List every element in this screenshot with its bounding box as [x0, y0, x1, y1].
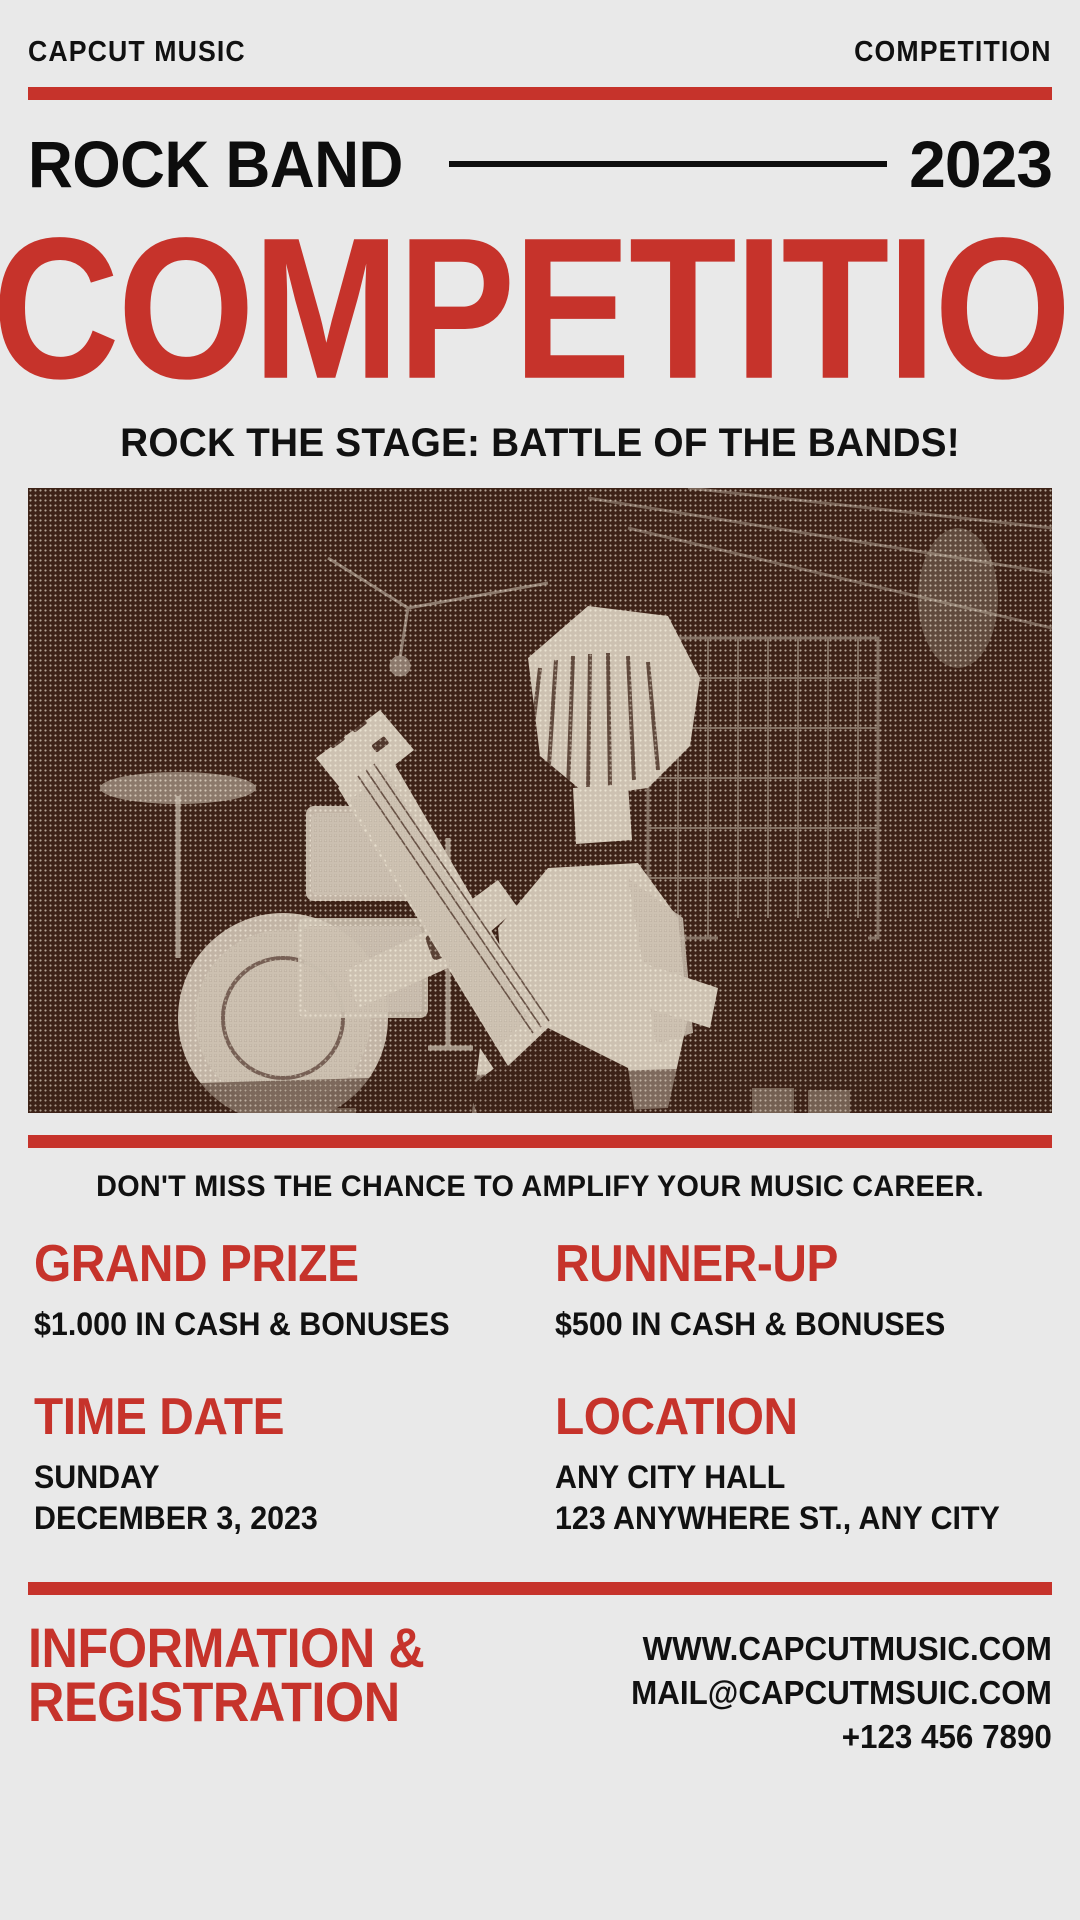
- contact-website[interactable]: WWW.CAPCUTMUSIC.COM: [631, 1627, 1052, 1671]
- info-body-line: DECEMBER 3, 2023: [34, 1498, 518, 1539]
- info-body: SUNDAY DECEMBER 3, 2023: [34, 1457, 518, 1539]
- stage-photo: [28, 488, 1052, 1113]
- info-heading: TIME DATE: [34, 1391, 502, 1443]
- registration-line-2: REGISTRATION: [28, 1675, 424, 1729]
- info-heading: RUNNER-UP: [555, 1238, 1012, 1290]
- connector-line: [449, 161, 887, 167]
- poster-root: CAPCUT MUSIC COMPETITION ROCK BAND 2023 …: [0, 0, 1080, 1920]
- info-body-line: 123 ANYWHERE ST., ANY CITY: [555, 1498, 1027, 1539]
- info-cell-grand-prize: GRAND PRIZE $1.000 IN CASH & BONUSES: [34, 1238, 543, 1345]
- info-grid: GRAND PRIZE $1.000 IN CASH & BONUSES RUN…: [28, 1238, 1052, 1539]
- info-body: ANY CITY HALL 123 ANYWHERE ST., ANY CITY: [555, 1457, 1027, 1539]
- contact-list: WWW.CAPCUTMUSIC.COM MAIL@CAPCUTMSUIC.COM…: [631, 1621, 1052, 1758]
- registration-heading: INFORMATION & REGISTRATION: [28, 1621, 424, 1729]
- halftone-overlay: [28, 488, 1052, 1113]
- page-title: COMPETITION: [0, 224, 1080, 393]
- info-cell-runner-up: RUNNER-UP $500 IN CASH & BONUSES: [543, 1238, 1052, 1345]
- pitch-line: DON'T MISS THE CHANCE TO AMPLIFY YOUR MU…: [48, 1170, 1031, 1204]
- divider-rule-bottom: [28, 1582, 1052, 1595]
- divider-rule-top: [28, 87, 1052, 100]
- poster-footer: INFORMATION & REGISTRATION WWW.CAPCUTMUS…: [28, 1621, 1052, 1758]
- info-body: $500 IN CASH & BONUSES: [555, 1304, 1027, 1345]
- band-year-row: ROCK BAND 2023: [28, 126, 1052, 202]
- divider-rule-middle: [28, 1135, 1052, 1148]
- info-heading: GRAND PRIZE: [34, 1238, 502, 1290]
- info-body: $1.000 IN CASH & BONUSES: [34, 1304, 518, 1345]
- info-body-line: SUNDAY: [34, 1457, 518, 1498]
- contact-phone[interactable]: +123 456 7890: [631, 1715, 1052, 1759]
- section-label: COMPETITION: [855, 36, 1052, 69]
- contact-email[interactable]: MAIL@CAPCUTMSUIC.COM: [631, 1671, 1052, 1715]
- info-body-line: ANY CITY HALL: [555, 1457, 1027, 1498]
- brand-label: CAPCUT MUSIC: [28, 36, 246, 69]
- info-heading: LOCATION: [555, 1391, 1012, 1443]
- year-label: 2023: [909, 126, 1052, 202]
- info-cell-time-date: TIME DATE SUNDAY DECEMBER 3, 2023: [34, 1391, 543, 1539]
- rock-band-label: ROCK BAND: [28, 126, 403, 202]
- poster-header: CAPCUT MUSIC COMPETITION: [28, 0, 1052, 87]
- info-cell-location: LOCATION ANY CITY HALL 123 ANYWHERE ST.,…: [543, 1391, 1052, 1539]
- registration-line-1: INFORMATION &: [28, 1621, 424, 1675]
- page-subtitle: ROCK THE STAGE: BATTLE OF THE BANDS!: [43, 421, 1036, 466]
